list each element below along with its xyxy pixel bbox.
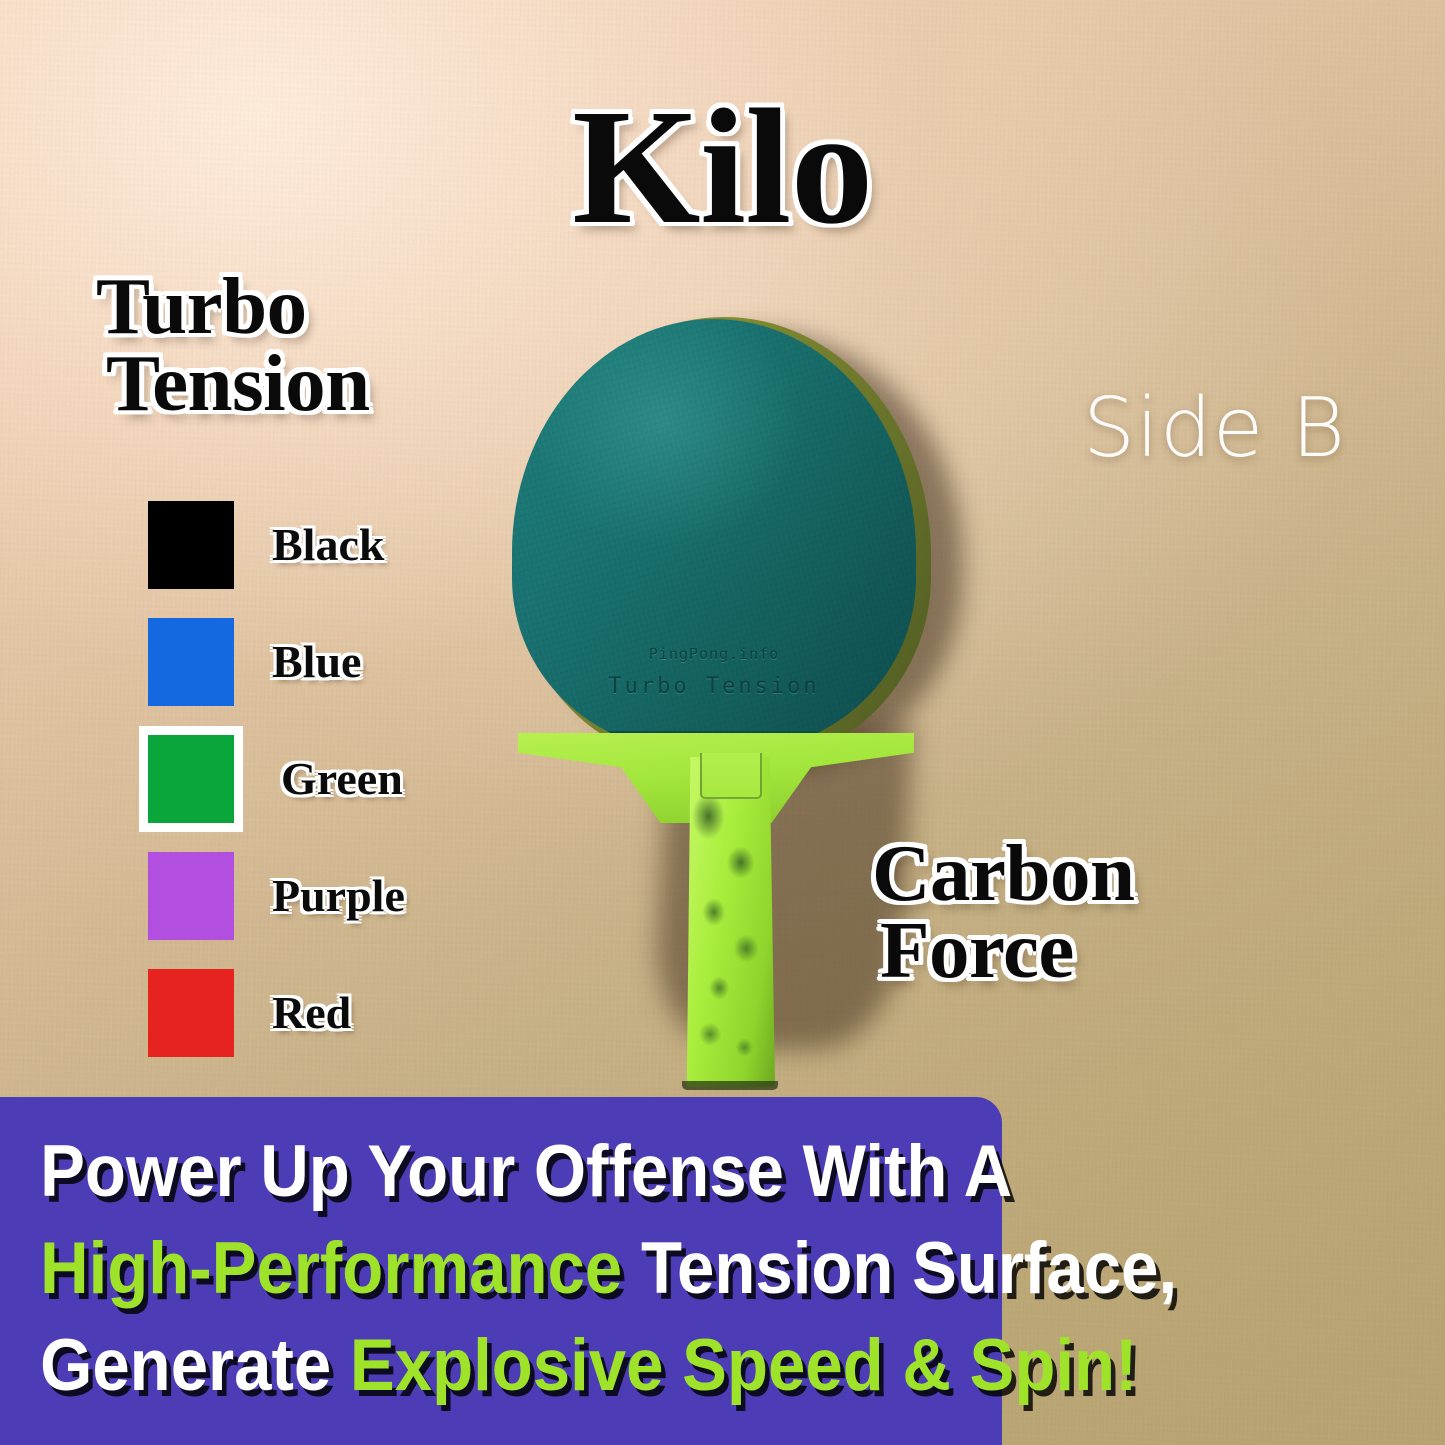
color-label-purple: Purple <box>272 873 405 919</box>
banner-line-3: Generate Explosive Speed & Spin! <box>40 1329 962 1402</box>
color-swatch-green[interactable] <box>139 726 243 832</box>
blade-heading: Carbon Force <box>872 835 1135 989</box>
color-label-red: Red <box>272 990 351 1036</box>
banner-line2-text: Tension Surface, <box>641 1228 1177 1309</box>
legend-item-green[interactable]: Green <box>148 724 405 834</box>
paddle-rubber-face: PingPong.info Turbo Tension <box>512 319 916 751</box>
product-title: Kilo <box>0 84 1445 249</box>
color-label-black: Black <box>272 522 384 568</box>
rubber-heading: Turbo Tension <box>96 268 370 422</box>
banner-line3-highlight: Explosive Speed & Spin! <box>350 1325 1137 1406</box>
rubber-emboss-brand: PingPong.info <box>512 645 916 663</box>
legend-item-black[interactable]: Black <box>148 490 405 600</box>
rubber-emboss-model: Turbo Tension <box>512 674 916 699</box>
paddle-handle <box>685 757 775 1087</box>
color-swatch-purple[interactable] <box>148 852 234 940</box>
rubber-heading-line2: Tension <box>106 345 370 422</box>
side-label: Side B <box>1083 388 1346 470</box>
color-label-green: Green <box>281 756 403 802</box>
color-legend: Black Blue Green Purple Red <box>148 490 405 1075</box>
banner-line3-text: Generate <box>40 1325 331 1406</box>
legend-item-red[interactable]: Red <box>148 958 405 1068</box>
color-swatch-black[interactable] <box>148 501 234 589</box>
banner-line-1: Power Up Your Offense With A <box>40 1135 962 1208</box>
promo-banner: Power Up Your Offense With A High-Perfor… <box>0 1097 1002 1445</box>
color-label-blue: Blue <box>272 639 361 685</box>
blade-heading-line2: Force <box>880 912 1135 989</box>
legend-item-blue[interactable]: Blue <box>148 607 405 717</box>
banner-line2-highlight: High-Performance <box>40 1228 622 1309</box>
paddle-handle-notch <box>700 753 762 799</box>
color-swatch-red[interactable] <box>148 969 234 1057</box>
banner-line1-text: Power Up Your Offense With A <box>40 1131 1012 1212</box>
color-swatch-blue[interactable] <box>148 618 234 706</box>
legend-item-purple[interactable]: Purple <box>148 841 405 951</box>
paddle-handle-base <box>682 1081 778 1090</box>
banner-line-2: High-Performance Tension Surface, <box>40 1232 962 1305</box>
